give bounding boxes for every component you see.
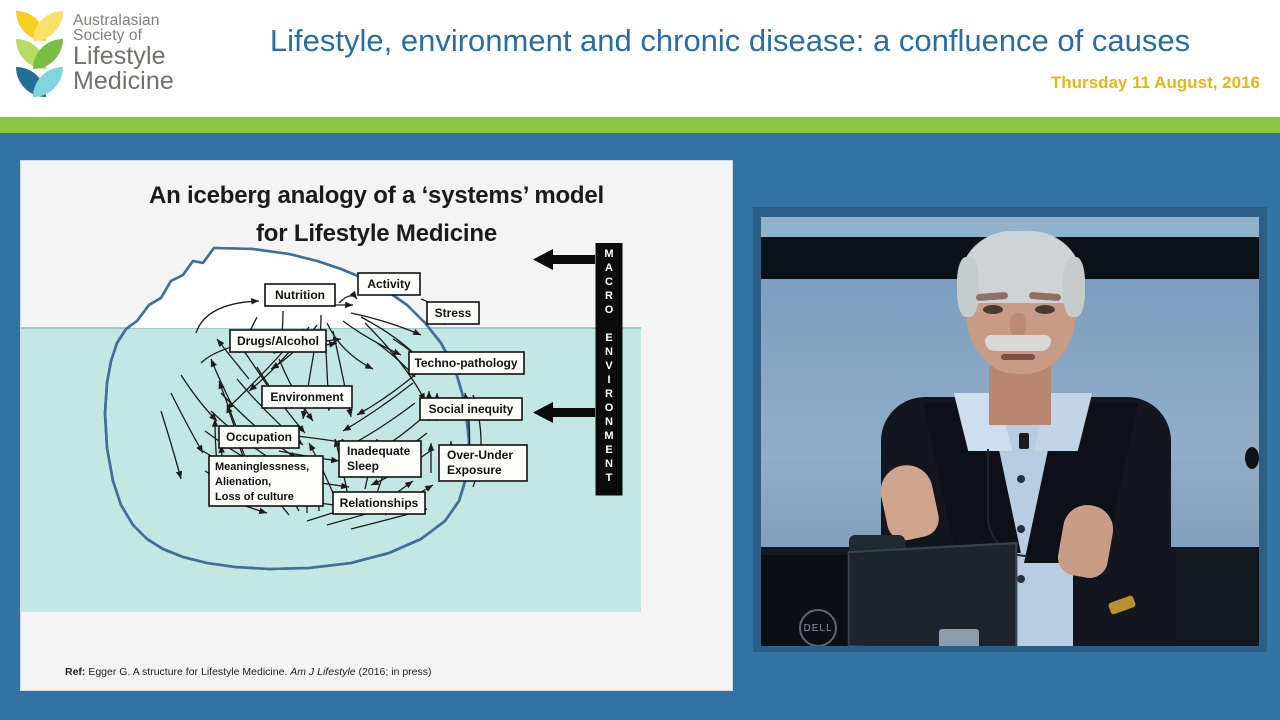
node-label-nutrition: Nutrition [275,288,325,302]
leaf-yellow-right-icon [33,11,63,41]
node-label-inadequate-sleep-line1: Inadequate [347,444,411,458]
presentation-title: Lifestyle, environment and chronic disea… [200,23,1260,59]
iceberg-systems-diagram: Nutrition Activity Stress Drugs/Alcohol [21,243,733,663]
slide-title-line-1: An iceberg analogy of a ‘systems’ model [21,177,732,215]
logo-line-4: Medicine [73,69,174,94]
svg-text:O: O [605,402,614,414]
leaf-green-right-icon [33,39,63,69]
water-glass [939,629,979,646]
svg-text:N: N [605,346,613,358]
node-inadequate-sleep[interactable]: Inadequate Sleep [339,441,421,477]
node-label-environment: Environment [270,390,343,404]
node-label-meaninglessness-line3: Loss of culture [215,491,294,503]
node-label-occupation: Occupation [226,430,292,444]
svg-text:I: I [607,374,610,386]
reference-text-before: Egger G. A structure for Lifestyle Medic… [85,666,290,678]
presenter-video-panel[interactable]: DELL [753,207,1267,652]
node-label-meaninglessness-line1: Meaninglessness, [215,461,309,473]
lapel-mic-icon [1019,433,1029,449]
svg-text:V: V [605,360,613,372]
laptop-brand-logo: DELL [799,609,837,646]
shirt-button-3 [1017,575,1025,583]
svg-text:N: N [605,416,613,428]
speaker-moustache [985,335,1051,351]
slide-title: An iceberg analogy of a ‘systems’ model … [21,177,732,253]
node-techno-pathology[interactable]: Techno-pathology [409,352,524,374]
node-over-under-exposure[interactable]: Over-Under Exposure [439,445,527,481]
svg-text:R: R [605,290,613,302]
svg-text:N: N [605,458,613,470]
leaf-logo-icon [16,9,64,97]
node-label-techno-pathology: Techno-pathology [414,356,517,370]
slide-panel[interactable]: An iceberg analogy of a ‘systems’ model … [20,160,733,691]
laptop-screen [848,542,1018,646]
node-social-inequity[interactable]: Social inequity [420,398,522,420]
node-environment[interactable]: Environment [262,386,352,408]
node-label-relationships: Relationships [340,496,419,510]
node-label-drugs-alcohol: Drugs/Alcohol [237,334,319,348]
reference-text-after: (2016; in press) [356,666,432,678]
slide-reference: Ref: Egger G. A structure for Lifestyle … [65,666,432,678]
page-header: Australasian Society of Lifestyle Medici… [0,0,1280,117]
node-label-over-under-exposure-line2: Exposure [447,463,502,477]
node-occupation[interactable]: Occupation [219,426,299,448]
organisation-logo: Australasian Society of Lifestyle Medici… [16,9,174,97]
node-label-meaninglessness-line2: Alienation, [215,476,271,488]
node-label-inadequate-sleep-line2: Sleep [347,459,379,473]
speaker-hair-right [1063,257,1085,317]
macro-arrow-top-icon [533,249,595,270]
background-object [1245,447,1259,469]
presenter-video-frame: DELL [761,217,1259,646]
speaker-eye-left [983,305,1003,314]
node-activity[interactable]: Activity [358,273,420,295]
reference-prefix: Ref: [65,666,85,678]
node-relationships[interactable]: Relationships [333,492,425,514]
node-stress[interactable]: Stress [427,302,479,324]
speaker-mouth [1001,354,1035,360]
logo-line-3: Lifestyle [73,44,174,69]
node-label-stress: Stress [435,306,472,320]
node-drugs-alcohol[interactable]: Drugs/Alcohol [230,330,326,352]
speaker-hair-left [957,257,979,317]
svg-text:A: A [605,262,613,274]
node-label-social-inequity: Social inequity [429,402,514,416]
logo-line-1: Australasian [73,13,174,29]
svg-text:M: M [604,248,613,260]
node-meaninglessness[interactable]: Meaninglessness, Alienation, Loss of cul… [209,456,323,506]
node-label-over-under-exposure-line1: Over-Under [447,448,513,462]
macro-environment-bar: M A C R O E N V I R O N M E N T [596,243,622,495]
svg-text:O: O [605,304,614,316]
presentation-date: Thursday 11 August, 2016 [1051,73,1260,93]
node-label-activity: Activity [367,277,411,291]
accent-band [0,117,1280,133]
slide-viewer: Australasian Society of Lifestyle Medici… [0,0,1280,720]
svg-text:T: T [606,472,613,484]
node-nutrition[interactable]: Nutrition [265,284,335,306]
leaf-teal-right-icon [33,67,63,97]
speaker-eye-right [1035,305,1055,314]
logo-wordmark: Australasian Society of Lifestyle Medici… [73,13,174,94]
svg-text:C: C [605,276,613,288]
svg-text:E: E [605,444,612,456]
svg-text:E: E [605,332,612,344]
svg-text:R: R [605,388,613,400]
reference-journal: Am J Lifestyle [290,666,355,678]
speaker-neck [989,365,1051,425]
svg-text:M: M [604,430,613,442]
